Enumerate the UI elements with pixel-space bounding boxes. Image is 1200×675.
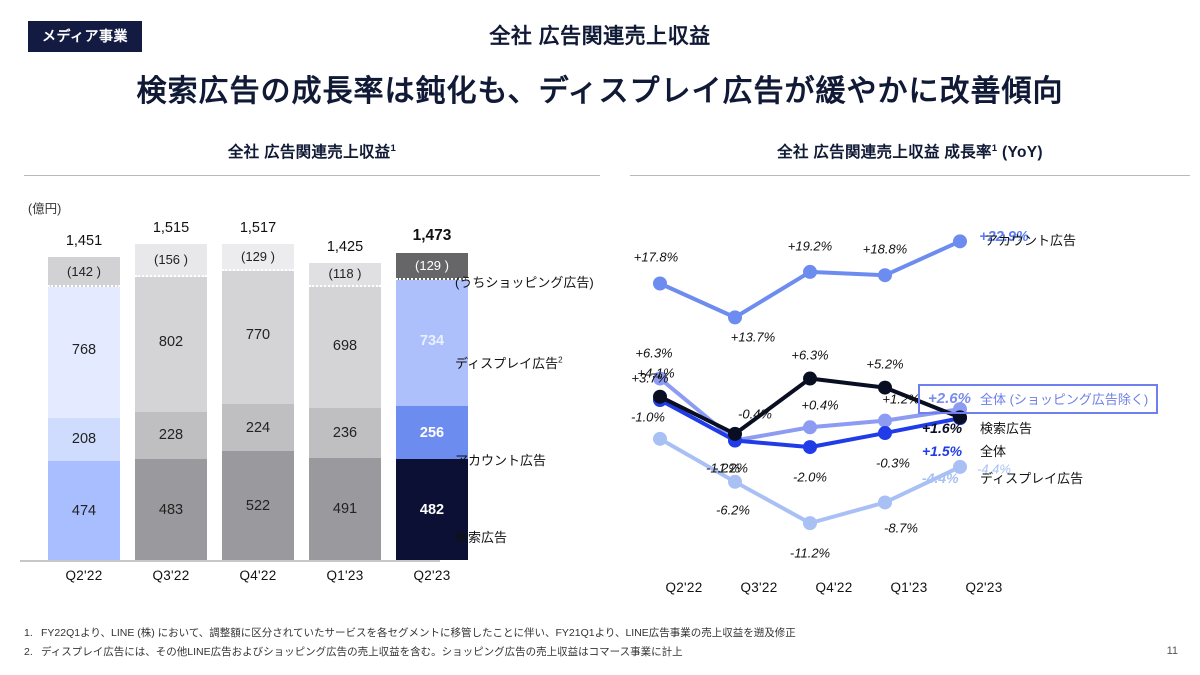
line-point-label: -6.2% xyxy=(716,502,750,517)
bar-segment-search: 483 xyxy=(135,459,207,560)
right-panel-divider xyxy=(630,175,1190,176)
line-point-label: +19.2% xyxy=(788,238,832,253)
line-x-axis-label: Q2'22 xyxy=(649,580,719,595)
line-legend-total-name: 全体 xyxy=(980,441,1006,460)
bar-column: 1,425(118 )698236491 xyxy=(309,263,381,560)
left-panel-title: 全社 広告関連売上収益1 xyxy=(24,140,600,162)
bar-column: 1,517(129 )770224522 xyxy=(222,244,294,560)
line-data-point xyxy=(728,310,742,324)
line-x-axis-label: Q1'23 xyxy=(874,580,944,595)
left-panel-title-footnote-marker: 1 xyxy=(390,143,396,154)
line-data-point xyxy=(653,390,667,404)
bar-legend-display-text: ディスプレイ広告 xyxy=(455,356,558,371)
line-chart: +17.8%+13.7%+19.2%+18.8%+22.9%+4.1%-0.4%… xyxy=(630,196,1030,568)
left-panel-title-text: 全社 広告関連売上収益 xyxy=(228,144,391,161)
header-title: 全社 広告関連売上収益 xyxy=(0,20,1200,50)
line-x-axis-label: Q2'23 xyxy=(949,580,1019,595)
bar-chart-unit-label: (億円) xyxy=(28,198,61,217)
line-point-label: -8.7% xyxy=(884,521,918,536)
bar-segment-display-value: 698 xyxy=(309,338,381,354)
bar-x-axis-label: Q3'22 xyxy=(135,568,207,583)
slide: メディア事業 全社 広告関連売上収益 検索広告の成長率は鈍化も、ディスプレイ広告… xyxy=(0,0,1200,675)
page-title: 検索広告の成長率は鈍化も、ディスプレイ広告が緩やかに改善傾向 xyxy=(0,66,1200,110)
line-point-label: -1.2% xyxy=(706,461,740,476)
bar-chart: 1,451(142 )7682084741,515(156 )802228483… xyxy=(28,222,448,560)
left-panel-divider xyxy=(24,175,600,176)
bar-total-label: 1,515 xyxy=(135,220,207,236)
bar-segment-search: 474 xyxy=(48,461,120,560)
line-data-point xyxy=(803,440,817,454)
bar-column: 1,451(142 )768208474 xyxy=(48,257,120,560)
footnote-2-text: ディスプレイ広告には、その他LINE広告およびショッピング広告の売上収益を含む。… xyxy=(41,646,683,658)
bar-segment-account: 208 xyxy=(48,418,120,461)
bar-x-axis-label: Q1'23 xyxy=(309,568,381,583)
bar-segment-shopping: (118 ) xyxy=(309,263,381,288)
bar-x-axis-label: Q4'22 xyxy=(222,568,294,583)
line-point-label: +0.4% xyxy=(801,398,838,413)
bar-legend-shopping: (うちショッピング広告) xyxy=(455,272,594,291)
bar-total-label: 1,451 xyxy=(48,233,120,249)
bar-legend-display-footnote-marker: 2 xyxy=(558,356,562,365)
line-legend-total-ex-shopping-name: 全体 (ショッピング広告除く) xyxy=(980,389,1148,408)
right-panel-title-tail: (YoY) xyxy=(997,144,1042,161)
line-data-point xyxy=(803,516,817,530)
line-legend-total-ex-shopping: +2.6% 全体 (ショッピング広告除く) xyxy=(918,384,1158,414)
line-point-label: -0.3% xyxy=(876,456,910,471)
bar-segment-display-value: 768 xyxy=(48,342,120,358)
bar-segment-account: 228 xyxy=(135,412,207,460)
right-panel: 全社 広告関連売上収益 成長率1 (YoY) xyxy=(630,140,1190,176)
right-panel-title-text: 全社 広告関連売上収益 成長率 xyxy=(777,144,992,161)
line-legend-display-name: ディスプレイ広告 xyxy=(980,468,1083,487)
bar-total-label: 1,425 xyxy=(309,239,381,255)
bar-chart-axis xyxy=(20,560,440,562)
line-legend-display-value: -4.4% xyxy=(922,470,980,486)
footnote-1-text: FY22Q1より、LINE (株) において、調整額に区分されていたサービスを各… xyxy=(41,627,796,639)
line-point-label: -2.0% xyxy=(793,470,827,485)
line-data-point xyxy=(878,414,892,428)
bar-segment-search: 522 xyxy=(222,451,294,560)
line-data-point xyxy=(878,426,892,440)
line-point-label: +3.7% xyxy=(631,371,668,386)
line-data-point xyxy=(653,276,667,290)
bar-legend-display: ディスプレイ広告2 xyxy=(455,353,563,372)
line-x-axis-label: Q3'22 xyxy=(724,580,794,595)
line-legend-account: アカウント広告 xyxy=(985,230,1076,249)
line-data-point xyxy=(803,265,817,279)
right-panel-title: 全社 広告関連売上収益 成長率1 (YoY) xyxy=(630,140,1190,162)
bar-segment-display: (118 )698 xyxy=(309,263,381,409)
bar-column: 1,515(156 )802228483 xyxy=(135,244,207,560)
bar-total-label: 1,517 xyxy=(222,220,294,236)
line-point-label: -11.2% xyxy=(790,546,830,561)
bar-segment-display-value: 770 xyxy=(222,327,294,343)
line-data-point xyxy=(878,268,892,282)
line-point-label: -1.0% xyxy=(631,409,665,424)
line-data-point xyxy=(803,420,817,434)
line-point-label: +6.3% xyxy=(635,345,672,360)
line-legend-display: -4.4% ディスプレイ広告 xyxy=(922,468,1083,487)
line-point-label: +18.8% xyxy=(863,242,907,257)
line-legend-search: +1.6% 検索広告 xyxy=(922,418,1032,437)
page-number: 11 xyxy=(1167,645,1178,657)
line-point-label: +1.2% xyxy=(882,391,919,406)
footnote-2-number: 2. xyxy=(24,646,41,658)
bar-segment-search: 491 xyxy=(309,458,381,560)
bar-x-axis-label: Q2'22 xyxy=(48,568,120,583)
bar-segment-account: 236 xyxy=(309,408,381,457)
bar-segment-display: (129 )770 xyxy=(222,244,294,405)
line-x-axis-label: Q4'22 xyxy=(799,580,869,595)
bar-x-axis-label: Q2'23 xyxy=(396,568,468,583)
line-legend-total-ex-shopping-value: +2.6% xyxy=(928,390,971,407)
footnote-1-number: 1. xyxy=(24,627,41,639)
bar-segment-shopping: (129 ) xyxy=(222,244,294,271)
bar-total-label: 1,473 xyxy=(396,227,468,245)
line-point-label: +17.8% xyxy=(634,250,678,265)
bar-segment-display: (156 )802 xyxy=(135,244,207,411)
left-panel: 全社 広告関連売上収益1 xyxy=(24,140,600,176)
line-legend-total: +1.5% 全体 xyxy=(922,441,1006,460)
bar-segment-shopping: (156 ) xyxy=(135,244,207,277)
line-point-label: +5.2% xyxy=(866,356,903,371)
line-legend-total-value: +1.5% xyxy=(922,443,980,459)
bar-segment-display: (142 )768 xyxy=(48,257,120,417)
line-legend-search-value: +1.6% xyxy=(922,420,980,436)
bar-legend-search: 検索広告 xyxy=(455,527,507,546)
line-data-point xyxy=(803,372,817,386)
line-point-label: +6.3% xyxy=(791,347,828,362)
bar-segment-shopping: (142 ) xyxy=(48,257,120,287)
line-data-point xyxy=(653,432,667,446)
bar-segment-display-value: 802 xyxy=(135,334,207,350)
footnote-2: 2.ディスプレイ広告には、その他LINE広告およびショッピング広告の売上収益を含… xyxy=(24,644,683,659)
bar-segment-display-value: 734 xyxy=(396,333,468,349)
bar-segment-account: 224 xyxy=(222,404,294,451)
line-point-label: -0.4% xyxy=(738,406,772,421)
line-legend-search-name: 検索広告 xyxy=(980,418,1032,437)
bar-legend-account: アカウント広告 xyxy=(455,450,546,469)
line-data-point xyxy=(878,495,892,509)
line-data-point xyxy=(728,427,742,441)
line-data-point xyxy=(953,234,967,248)
footnote-1: 1.FY22Q1より、LINE (株) において、調整額に区分されていたサービス… xyxy=(24,625,796,640)
line-data-point xyxy=(728,475,742,489)
line-point-label: +13.7% xyxy=(731,330,775,345)
bar-column: 1,473(129 )734256482 xyxy=(396,253,468,560)
